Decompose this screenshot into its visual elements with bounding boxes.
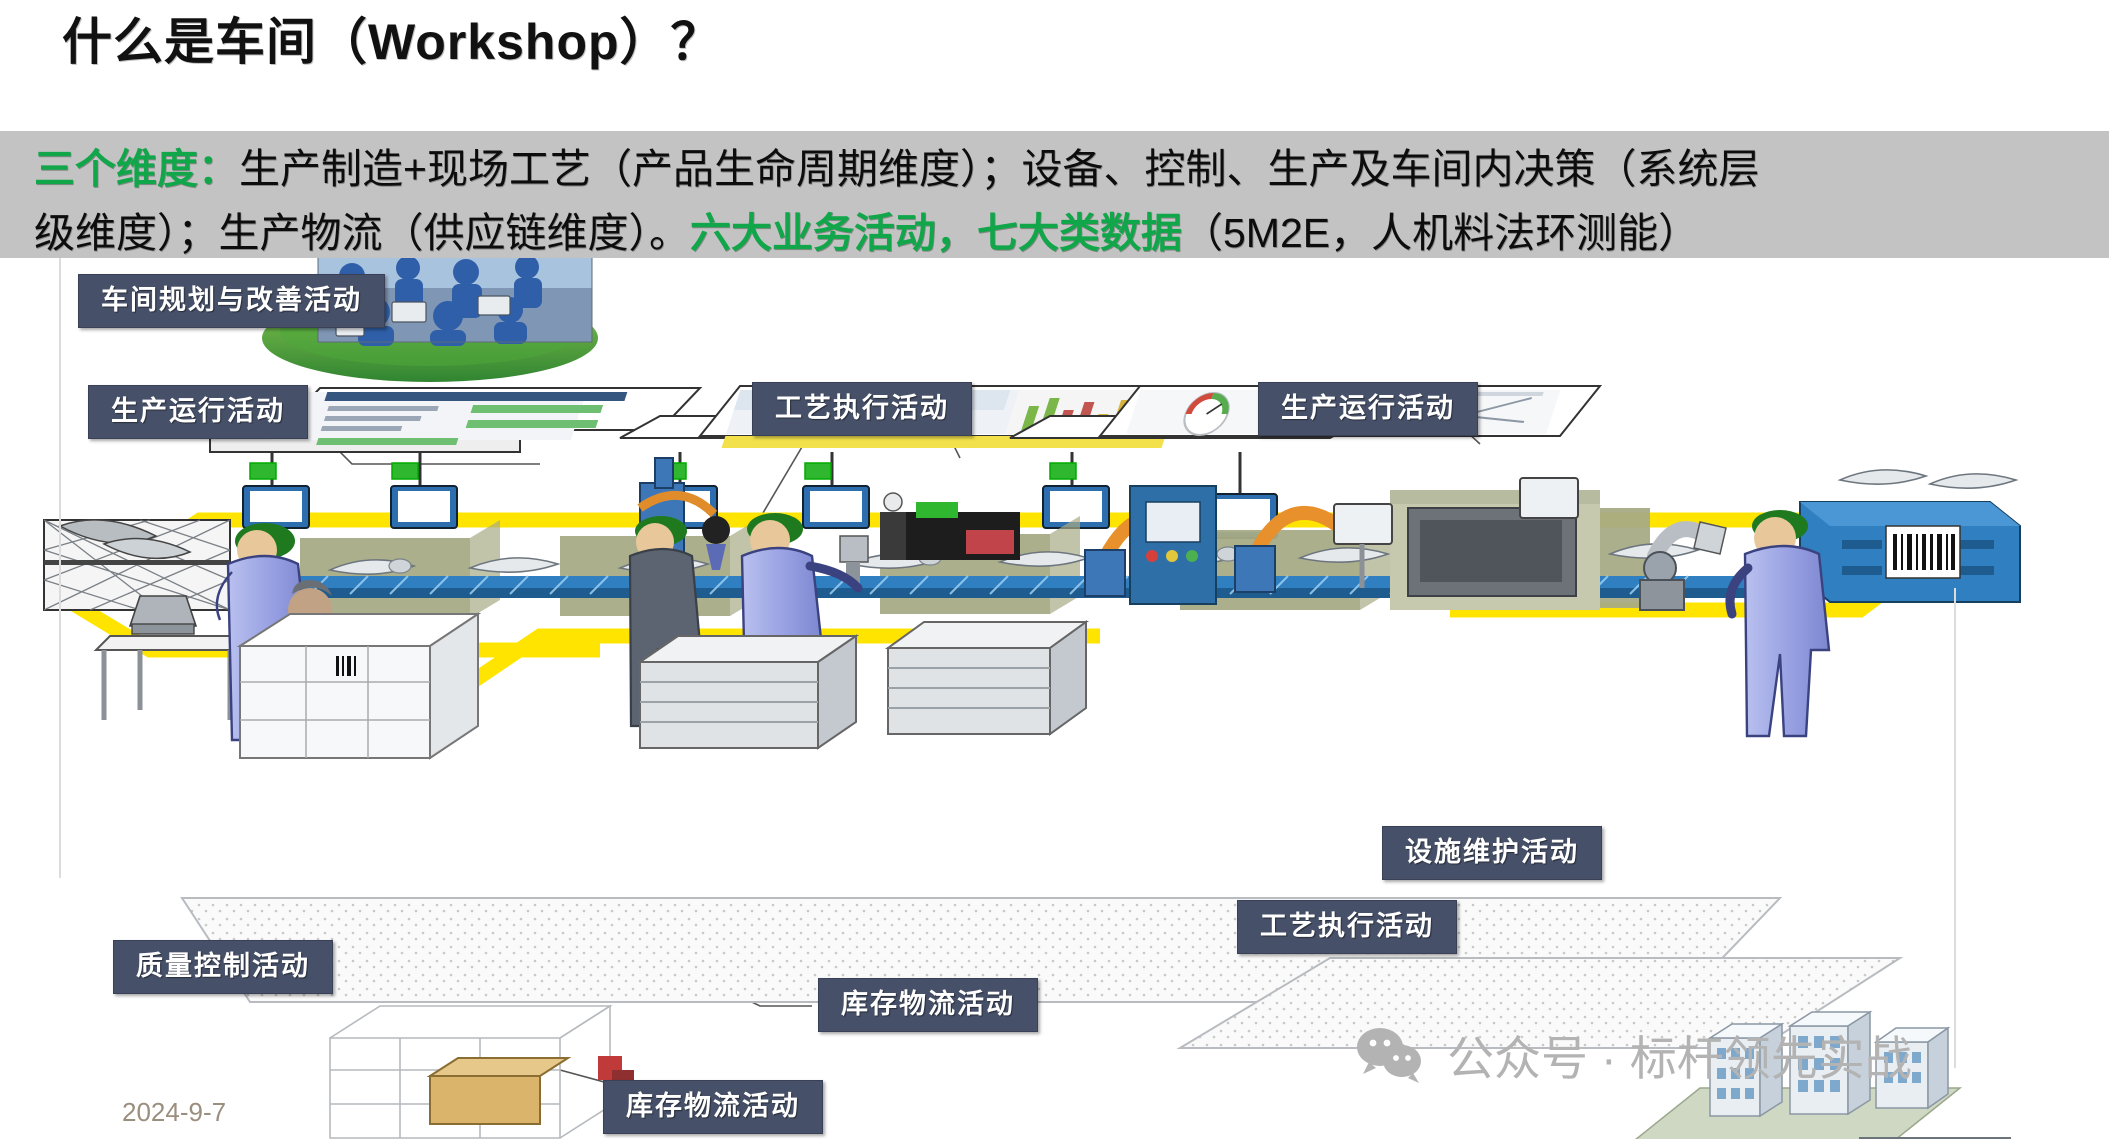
banner-line-1: 三个维度：生产制造+现场工艺（产品生命周期维度）；设备、控制、生产及车间内决策（… <box>34 137 2103 201</box>
label-inventory-logi-bot[interactable]: 库存物流活动 <box>603 1080 823 1134</box>
banner-line-2-suffix: （5M2E，人机料法环测能） <box>1182 210 1699 256</box>
banner-line-1-rest: 生产制造+现场工艺（产品生命周期维度）；设备、控制、生产及车间内决策（系统层 <box>239 146 1759 192</box>
label-production-run-right[interactable]: 生产运行活动 <box>1258 382 1478 436</box>
label-inventory-logi-mid[interactable]: 库存物流活动 <box>818 978 1038 1032</box>
banner-line-2-prefix: 级维度）；生产物流（供应链维度）。 <box>34 210 690 256</box>
banner-line-2-highlight: 六大业务活动，七大类数据 <box>690 210 1182 256</box>
banner-line-2: 级维度）；生产物流（供应链维度）。六大业务活动，七大类数据（5M2E，人机料法环… <box>34 201 2103 265</box>
pallet-stacks <box>240 614 1086 1138</box>
factory-scene-svg <box>0 258 2109 1139</box>
slide-root: 什么是车间（Workshop）？ 三个维度：生产制造+现场工艺（产品生命周期维度… <box>0 0 2109 1139</box>
label-process-exec-bottom[interactable]: 工艺执行活动 <box>1237 900 1457 954</box>
date-stamp: 2024-9-7 <box>122 1097 226 1128</box>
label-facility-maintain[interactable]: 设施维护活动 <box>1382 826 1602 880</box>
label-workshop-planning[interactable]: 车间规划与改善活动 <box>78 274 385 328</box>
floor-slab <box>182 898 1900 1048</box>
material-rack <box>44 520 230 610</box>
workshop-illustration: 车间规划与改善活动 生产运行活动 工艺执行活动 生产运行活动 设施维护活动 工艺… <box>0 258 2109 1139</box>
inspection-table-left <box>96 596 250 720</box>
label-process-exec-top[interactable]: 工艺执行活动 <box>752 382 972 436</box>
label-quality-control[interactable]: 质量控制活动 <box>113 940 333 994</box>
summary-banner: 三个维度：生产制造+现场工艺（产品生命周期维度）；设备、控制、生产及车间内决策（… <box>0 131 2109 258</box>
page-title: 什么是车间（Workshop）？ <box>62 2 722 74</box>
label-production-run-left[interactable]: 生产运行活动 <box>88 385 308 439</box>
banner-line-1-highlight: 三个维度： <box>34 146 239 192</box>
